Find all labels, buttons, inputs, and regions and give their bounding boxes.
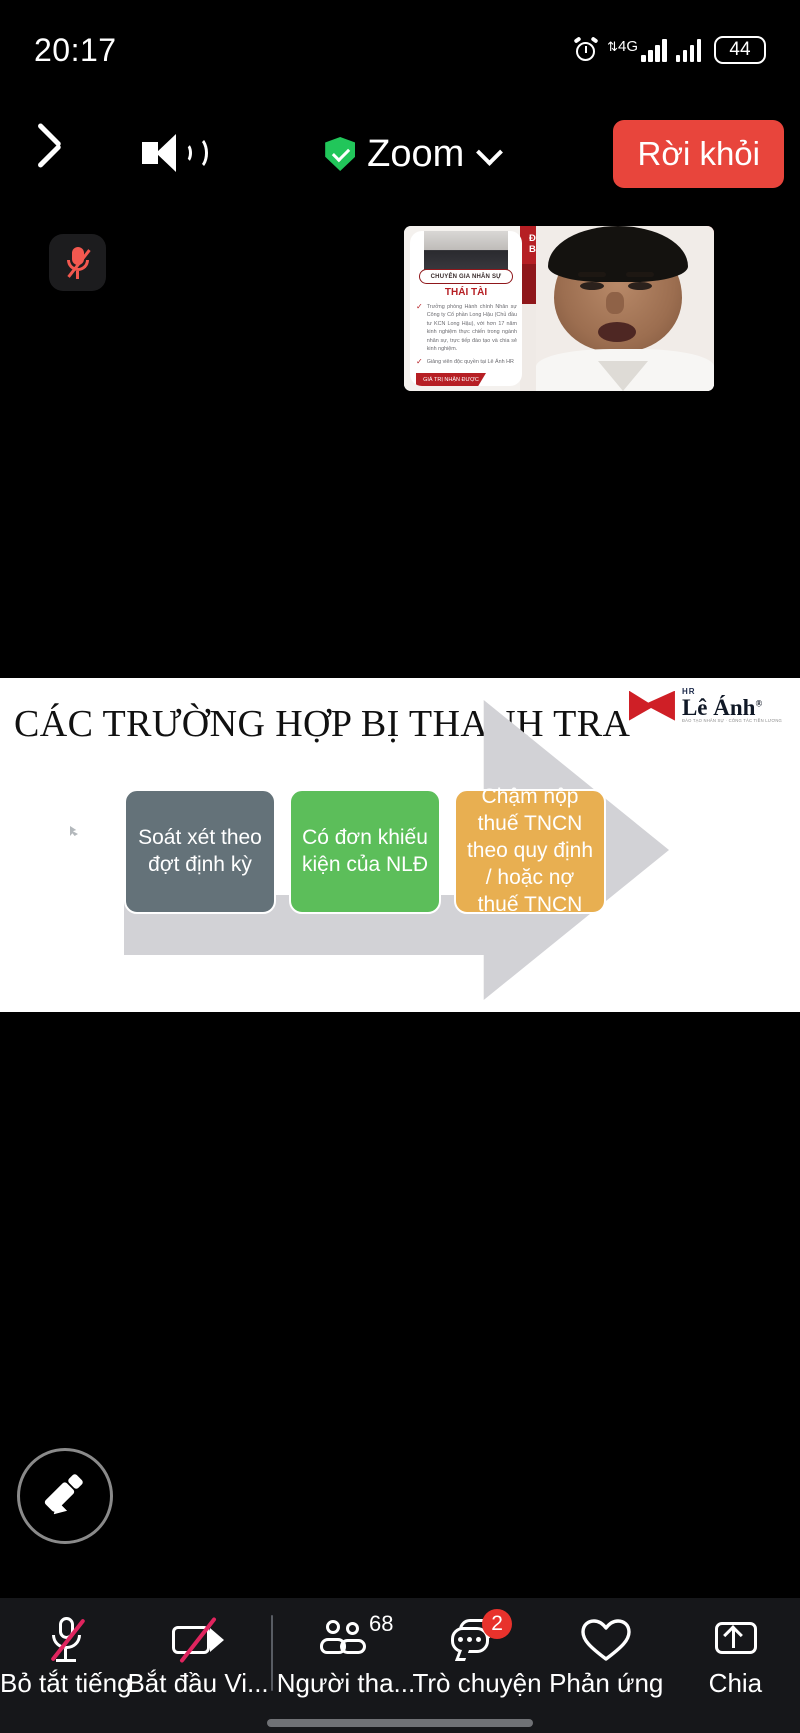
chat-label: Trò chuyện <box>412 1668 541 1699</box>
brand-logo: HR Lê Ánh® ĐÀO TẠO NHÂN SỰ · CÔNG TÁC TI… <box>629 688 782 723</box>
page-title: Zoom <box>367 133 464 176</box>
mouse-cursor-icon <box>70 826 78 836</box>
share-icon <box>711 1618 759 1662</box>
shared-screen-slide[interactable]: CÁC TRƯỜNG HỢP BỊ THANH TRA HR Lê Ánh® Đ… <box>0 678 800 1012</box>
zoom-meeting-screen: 20:17 ⇅4G 44 Zoom Rời <box>0 0 800 1733</box>
meeting-toolbar: Bỏ tắt tiếng Bắt đầu Vi... 68 Người tha.… <box>0 1598 800 1733</box>
speaker-icon[interactable] <box>142 130 212 178</box>
slide-box-group: Soát xét theo đợt định kỳ Có đơn khiếu k… <box>124 789 606 914</box>
data-transfer-icon: ⇅ <box>607 39 618 54</box>
mic-muted-icon <box>65 246 91 280</box>
status-time: 20:17 <box>34 32 117 69</box>
poster-value-tag: GIÁ TRỊ NHẬN ĐƯỢC <box>416 373 486 386</box>
network-type-label: ⇅4G <box>607 39 638 54</box>
shield-check-icon <box>325 137 355 171</box>
chevron-down-icon[interactable] <box>478 143 500 165</box>
chat-button[interactable]: 2 Trò chuyện <box>412 1613 541 1699</box>
poster-speaker-photo <box>424 231 508 273</box>
video-toggle-label: Bắt đầu Vi... <box>127 1668 268 1699</box>
share-button[interactable]: Chia <box>671 1613 800 1699</box>
presenter-camera-feed <box>536 226 714 391</box>
heart-icon <box>580 1618 632 1662</box>
presenter-video-thumbnail[interactable]: ĐOÀN THANH TRA THUẾ TNCN & BHXH 19H00 - … <box>404 226 714 391</box>
back-chevron-icon[interactable] <box>46 130 90 178</box>
mute-toggle-label: Bỏ tắt tiếng <box>0 1668 132 1699</box>
network-indicator: ⇅4G <box>607 38 666 62</box>
list-item: ✓ Trưởng phòng Hành chính Nhân sự Công t… <box>416 303 517 353</box>
check-icon: ✓ <box>416 303 423 353</box>
participants-label: Người tha... <box>277 1668 416 1699</box>
video-off-icon <box>170 1618 226 1662</box>
video-toggle-button[interactable]: Bắt đầu Vi... <box>132 1613 265 1699</box>
share-label: Chia <box>709 1668 762 1699</box>
slide-title: CÁC TRƯỜNG HỢP BỊ THANH TRA <box>14 702 630 746</box>
poster-speaker-name: THÁI TÀI <box>410 287 522 298</box>
leave-button[interactable]: Rời khỏi <box>613 120 784 188</box>
video-stage: ĐOÀN THANH TRA THUẾ TNCN & BHXH 19H00 - … <box>0 208 800 678</box>
signal-bars-sim1 <box>641 38 667 62</box>
participants-count-badge: 68 <box>369 1611 393 1637</box>
toolbar-divider <box>271 1615 274 1691</box>
chat-unread-badge: 2 <box>482 1609 512 1639</box>
mute-toggle-button[interactable]: Bỏ tắt tiếng <box>0 1613 132 1699</box>
annotate-button[interactable] <box>17 1448 113 1544</box>
poster-speaker-bio: ✓ Trưởng phòng Hành chính Nhân sự Công t… <box>416 303 517 372</box>
battery-indicator: 44 <box>714 36 766 64</box>
logo-registered-mark: ® <box>755 698 762 708</box>
check-icon: ✓ <box>416 358 423 366</box>
list-item: ✓ Giảng viên độc quyền tại Lê Ánh HR <box>416 358 517 366</box>
poster-speaker-role: CHUYÊN GIA NHÂN SỰ <box>419 269 513 284</box>
status-bar: 20:17 ⇅4G 44 <box>0 0 800 100</box>
signal-bars-sim2 <box>676 38 702 62</box>
home-indicator <box>267 1719 533 1727</box>
participants-icon <box>319 1618 373 1662</box>
alarm-icon <box>574 38 598 62</box>
logo-name: Lê Ánh <box>682 695 756 720</box>
slide-box-2: Có đơn khiếu kiện của NLĐ <box>289 789 441 914</box>
slide-box-1: Soát xét theo đợt định kỳ <box>124 789 276 914</box>
reactions-label: Phản ứng <box>549 1668 663 1699</box>
slide-box-3: Chậm nộp thuế TNCN theo quy định / hoặc … <box>454 789 606 914</box>
logo-tagline: ĐÀO TẠO NHÂN SỰ · CÔNG TÁC TIỀN LƯƠNG <box>682 719 782 723</box>
mic-off-icon <box>46 1615 86 1665</box>
logo-mark-icon <box>629 691 675 721</box>
self-mic-muted-badge <box>49 234 106 291</box>
meeting-title-group[interactable]: Zoom <box>212 133 613 176</box>
status-icon-group: ⇅4G 44 <box>574 36 766 64</box>
pencil-icon <box>42 1473 88 1519</box>
reactions-button[interactable]: Phản ứng <box>542 1613 671 1699</box>
meeting-header: Zoom Rời khỏi <box>0 100 800 208</box>
poster-speaker-card: CHUYÊN GIA NHÂN SỰ THÁI TÀI ✓ Trưởng phò… <box>410 231 522 386</box>
participants-button[interactable]: 68 Người tha... <box>279 1613 412 1699</box>
